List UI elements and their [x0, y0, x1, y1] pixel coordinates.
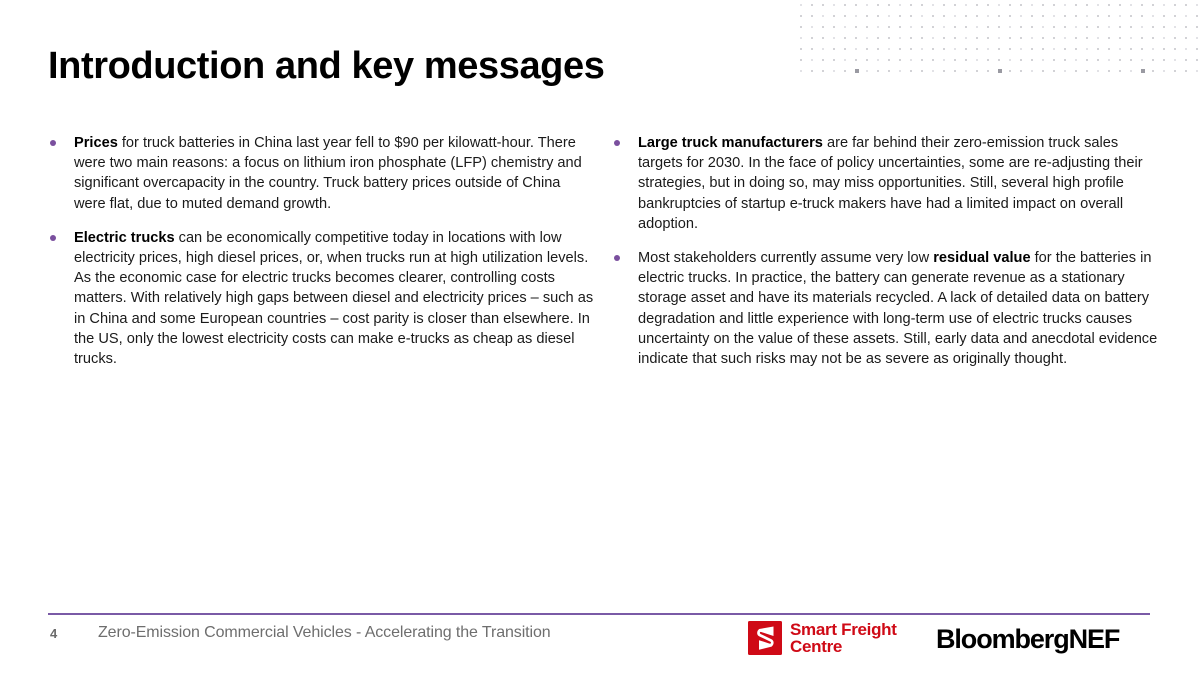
dot-grid-dot — [855, 4, 857, 6]
dot-grid-dot — [932, 59, 934, 61]
dot-grid-dot — [998, 4, 1000, 6]
bullet-text: Electric trucks can be economically comp… — [74, 230, 593, 367]
dot-grid-dot — [822, 70, 824, 72]
dot-grid-dot — [954, 48, 956, 50]
dot-grid-dot — [943, 70, 945, 72]
dot-grid-dot — [1108, 70, 1110, 72]
left-column: Prices for truck batteries in China last… — [48, 133, 594, 369]
dot-grid-dot — [976, 15, 978, 17]
dot-grid-dot — [1163, 26, 1165, 28]
dot-grid-dot — [965, 4, 967, 6]
dot-grid-dot — [811, 59, 813, 61]
dot-grid-dot — [1185, 37, 1187, 39]
dot-grid-dot — [1196, 26, 1198, 28]
dot-grid-dot — [1086, 70, 1088, 72]
dot-grid-dot — [1108, 15, 1110, 17]
dot-grid-dot — [1086, 48, 1088, 50]
dot-grid-dot — [1075, 59, 1077, 61]
dot-grid-dot — [921, 59, 923, 61]
dot-grid-dot — [1130, 48, 1132, 50]
dot-grid-dot — [976, 59, 978, 61]
dot-grid-dot — [811, 37, 813, 39]
dot-grid-dot — [987, 37, 989, 39]
dot-grid-dot — [976, 70, 978, 72]
dot-grid-dot — [1196, 4, 1198, 6]
dot-grid-dot — [1042, 59, 1044, 61]
dot-grid-dot — [1031, 70, 1033, 72]
dot-grid-dot — [833, 26, 835, 28]
dot-grid-dot — [877, 37, 879, 39]
dot-grid-dot — [921, 48, 923, 50]
dot-grid-dot — [932, 70, 934, 72]
dot-grid-dot — [833, 37, 835, 39]
dot-grid-dot — [1075, 15, 1077, 17]
dot-grid-dot — [800, 59, 802, 61]
dot-grid-dot — [877, 15, 879, 17]
dot-grid-dot — [910, 15, 912, 17]
right-column: Large truck manufacturers are far behind… — [612, 133, 1158, 369]
dot-grid-dot — [866, 15, 868, 17]
dot-grid-dot — [910, 26, 912, 28]
dot-grid-dot — [877, 59, 879, 61]
bullet-dot-icon — [50, 140, 56, 146]
dot-grid-dot — [965, 59, 967, 61]
dot-grid-dot — [965, 37, 967, 39]
dot-grid-dot — [954, 4, 956, 6]
dot-grid-dot — [1119, 4, 1121, 6]
dot-grid-dot — [1053, 26, 1055, 28]
dot-grid-dot — [1031, 48, 1033, 50]
dot-grid-dot — [1130, 4, 1132, 6]
dot-grid-dot — [1185, 26, 1187, 28]
dot-grid-dot — [1141, 4, 1143, 6]
dot-grid-dot — [877, 26, 879, 28]
dot-grid-dot — [976, 48, 978, 50]
dot-grid-dot — [888, 37, 890, 39]
dot-grid-dot — [822, 26, 824, 28]
dot-grid-dot — [965, 15, 967, 17]
dot-grid-dot — [943, 48, 945, 50]
dot-grid-dot — [1020, 26, 1022, 28]
dot-grid-dot — [1097, 15, 1099, 17]
dot-grid-dot — [866, 37, 868, 39]
list-item: Electric trucks can be economically comp… — [48, 228, 594, 369]
bullet-text: Large truck manufacturers are far behind… — [638, 135, 1143, 232]
list-item: Large truck manufacturers are far behind… — [612, 133, 1158, 234]
dot-grid-dot — [1185, 59, 1187, 61]
dot-grid-dot — [800, 15, 802, 17]
footer: 4 Zero-Emission Commercial Vehicles - Ac… — [48, 622, 1152, 662]
sfc-line-2: Centre — [790, 638, 897, 655]
dot-grid-dot — [899, 26, 901, 28]
dot-grid-dot — [1163, 37, 1165, 39]
dot-grid-dot — [1086, 37, 1088, 39]
list-item: Most stakeholders currently assume very … — [612, 248, 1158, 369]
dot-grid-dot — [844, 59, 846, 61]
dot-grid-dot — [833, 59, 835, 61]
dot-grid-dot — [1075, 48, 1077, 50]
dot-grid-dot — [1064, 48, 1066, 50]
dot-grid-dot — [910, 37, 912, 39]
bullet-emphasis: residual value — [933, 250, 1030, 266]
dot-grid-dot — [1152, 15, 1154, 17]
dot-grid-dot — [1097, 59, 1099, 61]
bullet-lead: Electric trucks — [74, 230, 175, 246]
dot-grid-dot — [1031, 15, 1033, 17]
dot-grid-dot — [1119, 59, 1121, 61]
bullet-lead: Prices — [74, 135, 118, 151]
dot-grid-dot — [987, 15, 989, 17]
dot-grid-dot — [1053, 70, 1055, 72]
dot-grid-dot — [1108, 48, 1110, 50]
dot-grid-dot — [1174, 59, 1176, 61]
dot-grid-dot — [811, 70, 813, 72]
dot-grid-dot — [965, 70, 967, 72]
dot-grid-dot — [888, 70, 890, 72]
dot-grid-dot — [1196, 15, 1198, 17]
dot-grid-dot — [943, 59, 945, 61]
dot-grid-dot — [833, 70, 835, 72]
dot-grid-dot — [833, 48, 835, 50]
slide-canvas: Introduction and key messages Prices for… — [0, 0, 1200, 675]
dot-grid-dot — [932, 48, 934, 50]
dot-grid-dot — [1119, 48, 1121, 50]
dot-grid-dot — [987, 70, 989, 72]
dot-grid-dot — [888, 26, 890, 28]
dot-grid-dot — [1174, 37, 1176, 39]
dot-grid-dot — [1042, 15, 1044, 17]
dot-grid-dot — [1020, 37, 1022, 39]
dot-grid-dot — [932, 26, 934, 28]
dot-grid-dot — [1196, 37, 1198, 39]
dot-grid-dot — [1064, 37, 1066, 39]
dot-grid-dot — [1020, 48, 1022, 50]
dot-grid-dot — [822, 48, 824, 50]
dot-grid-row — [800, 33, 1200, 44]
dot-grid-dot — [1185, 70, 1187, 72]
dot-grid-row — [800, 44, 1200, 55]
dot-grid-dot — [921, 15, 923, 17]
dot-grid-dot — [899, 4, 901, 6]
bullet-body: for truck batteries in China last year f… — [74, 135, 582, 212]
dot-grid-dot — [899, 70, 901, 72]
dot-grid-dot — [1141, 69, 1145, 73]
dot-grid-dot — [1196, 70, 1198, 72]
dot-grid-dot — [1097, 70, 1099, 72]
dot-grid-dot — [1163, 70, 1165, 72]
dot-grid-dot — [844, 48, 846, 50]
dot-grid-dot — [822, 37, 824, 39]
dot-grid-dot — [811, 15, 813, 17]
dot-grid-dot — [1086, 4, 1088, 6]
dot-grid-dot — [833, 15, 835, 17]
dot-grid-dot — [998, 59, 1000, 61]
dot-grid-dot — [899, 37, 901, 39]
dot-grid-dot — [888, 59, 890, 61]
dot-grid-dot — [943, 15, 945, 17]
dot-grid-row — [800, 0, 1200, 11]
dot-grid-dot — [910, 70, 912, 72]
dot-grid-dot — [1108, 26, 1110, 28]
dot-grid-dot — [1130, 26, 1132, 28]
dot-grid-dot — [1152, 59, 1154, 61]
dot-grid-dot — [998, 37, 1000, 39]
dot-grid-dot — [998, 26, 1000, 28]
dot-grid-dot — [822, 4, 824, 6]
dot-grid-dot — [976, 37, 978, 39]
page-number: 4 — [50, 626, 57, 641]
dot-grid-dot — [998, 48, 1000, 50]
dot-grid-dot — [932, 15, 934, 17]
dot-grid-dot — [877, 4, 879, 6]
dot-grid-dot — [1141, 15, 1143, 17]
list-item: Prices for truck batteries in China last… — [48, 133, 594, 214]
dot-grid-dot — [1009, 37, 1011, 39]
dot-grid-dot — [1174, 4, 1176, 6]
dot-grid-row — [800, 66, 1200, 77]
dot-grid-dot — [1097, 26, 1099, 28]
dot-grid-dot — [1053, 4, 1055, 6]
dot-grid-dot — [1163, 59, 1165, 61]
dot-grid-dot — [1075, 4, 1077, 6]
dot-grid-dot — [1009, 70, 1011, 72]
dot-grid-dot — [1064, 15, 1066, 17]
dot-grid-dot — [910, 4, 912, 6]
dot-grid-dot — [1086, 59, 1088, 61]
dot-grid-dot — [932, 37, 934, 39]
dot-grid-dot — [877, 70, 879, 72]
dot-grid-dot — [1185, 4, 1187, 6]
dot-grid-dot — [1075, 26, 1077, 28]
dot-grid-dot — [1031, 4, 1033, 6]
dot-grid-dot — [1031, 37, 1033, 39]
dot-grid-dot — [1064, 4, 1066, 6]
bullet-text: Prices for truck batteries in China last… — [74, 135, 582, 212]
dot-grid-dot — [1042, 4, 1044, 6]
dot-grid-dot — [1174, 26, 1176, 28]
dot-grid-row — [800, 55, 1200, 66]
dot-grid-dot — [965, 48, 967, 50]
sfc-line-1: Smart Freight — [790, 621, 897, 638]
dot-grid-dot — [1152, 70, 1154, 72]
dot-grid-dot — [987, 48, 989, 50]
dot-grid-dot — [1108, 59, 1110, 61]
dot-grid-dot — [855, 15, 857, 17]
dot-grid-dot — [1009, 15, 1011, 17]
dot-grid-dot — [811, 48, 813, 50]
dot-grid-dot — [1119, 26, 1121, 28]
footer-deck-title: Zero-Emission Commercial Vehicles - Acce… — [98, 624, 551, 642]
dot-grid-dot — [1042, 48, 1044, 50]
dot-grid-dot — [844, 70, 846, 72]
decorative-dot-grid — [800, 0, 1200, 80]
dot-grid-row — [800, 11, 1200, 22]
dot-grid-dot — [1042, 70, 1044, 72]
dot-grid-dot — [1174, 70, 1176, 72]
footer-divider — [48, 613, 1150, 615]
bullet-body-pre: Most stakeholders currently assume very … — [638, 250, 933, 266]
dot-grid-dot — [1009, 4, 1011, 6]
dot-grid-dot — [1086, 15, 1088, 17]
dot-grid-dot — [954, 15, 956, 17]
dot-grid-dot — [1075, 70, 1077, 72]
dot-grid-dot — [1075, 37, 1077, 39]
dot-grid-dot — [899, 15, 901, 17]
dot-grid-dot — [1174, 15, 1176, 17]
dot-grid-dot — [1130, 37, 1132, 39]
dot-grid-dot — [833, 4, 835, 6]
dot-grid-dot — [1174, 48, 1176, 50]
dot-grid-dot — [1009, 59, 1011, 61]
dot-grid-dot — [888, 4, 890, 6]
dot-grid-dot — [811, 4, 813, 6]
dot-grid-dot — [1163, 48, 1165, 50]
page-title: Introduction and key messages — [48, 42, 604, 90]
dot-grid-dot — [888, 48, 890, 50]
dot-grid-dot — [800, 37, 802, 39]
dot-grid-dot — [1020, 4, 1022, 6]
dot-grid-dot — [1064, 70, 1066, 72]
smart-freight-centre-wordmark: Smart Freight Centre — [790, 621, 897, 655]
dot-grid-dot — [1130, 59, 1132, 61]
dot-grid-dot — [987, 59, 989, 61]
dot-grid-dot — [899, 59, 901, 61]
dot-grid-dot — [866, 26, 868, 28]
dot-grid-dot — [932, 4, 934, 6]
bullet-text: Most stakeholders currently assume very … — [638, 250, 1157, 367]
bullet-dot-icon — [614, 255, 620, 261]
dot-grid-dot — [987, 4, 989, 6]
bullet-dot-icon — [50, 235, 56, 241]
dot-grid-dot — [800, 26, 802, 28]
dot-grid-dot — [921, 70, 923, 72]
dot-grid-dot — [844, 26, 846, 28]
dot-grid-dot — [976, 26, 978, 28]
dot-grid-dot — [1020, 15, 1022, 17]
dot-grid-dot — [943, 26, 945, 28]
dot-grid-dot — [1196, 48, 1198, 50]
dot-grid-dot — [1119, 70, 1121, 72]
dot-grid-dot — [1108, 37, 1110, 39]
dot-grid-dot — [855, 26, 857, 28]
dot-grid-dot — [987, 26, 989, 28]
dot-grid-dot — [1053, 37, 1055, 39]
bullet-lead: Large truck manufacturers — [638, 135, 823, 151]
dot-grid-dot — [1130, 15, 1132, 17]
dot-grid-dot — [954, 70, 956, 72]
content-columns: Prices for truck batteries in China last… — [48, 133, 1158, 369]
dot-grid-dot — [822, 59, 824, 61]
bullet-body: can be economically competitive today in… — [74, 230, 593, 367]
dot-grid-dot — [1119, 37, 1121, 39]
dot-grid-dot — [1196, 59, 1198, 61]
dot-grid-dot — [822, 15, 824, 17]
dot-grid-dot — [1053, 15, 1055, 17]
dot-grid-dot — [855, 48, 857, 50]
dot-grid-dot — [954, 59, 956, 61]
dot-grid-dot — [921, 37, 923, 39]
dot-grid-dot — [1141, 59, 1143, 61]
dot-grid-dot — [1020, 59, 1022, 61]
dot-grid-dot — [1064, 59, 1066, 61]
dot-grid-dot — [954, 37, 956, 39]
dot-grid-dot — [1009, 26, 1011, 28]
bullet-dot-icon — [614, 140, 620, 146]
dot-grid-dot — [1141, 48, 1143, 50]
smart-freight-centre-mark-icon — [748, 621, 782, 655]
dot-grid-dot — [954, 26, 956, 28]
dot-grid-dot — [910, 48, 912, 50]
dot-grid-dot — [800, 48, 802, 50]
dot-grid-dot — [1185, 48, 1187, 50]
dot-grid-dot — [800, 70, 802, 72]
dot-grid-dot — [866, 4, 868, 6]
dot-grid-dot — [855, 69, 859, 73]
dot-grid-dot — [888, 15, 890, 17]
dot-grid-dot — [1042, 37, 1044, 39]
dot-grid-dot — [899, 48, 901, 50]
dot-grid-dot — [1053, 48, 1055, 50]
dot-grid-dot — [1119, 15, 1121, 17]
dot-grid-dot — [1163, 4, 1165, 6]
dot-grid-dot — [866, 59, 868, 61]
dot-grid-dot — [910, 59, 912, 61]
dot-grid-dot — [844, 37, 846, 39]
bullet-body: for the batteries in electric trucks. In… — [638, 250, 1157, 367]
dot-grid-dot — [1163, 15, 1165, 17]
dot-grid-dot — [921, 26, 923, 28]
dot-grid-dot — [1097, 37, 1099, 39]
dot-grid-dot — [1031, 26, 1033, 28]
dot-grid-dot — [1086, 26, 1088, 28]
smart-freight-centre-logo: Smart Freight Centre — [748, 618, 897, 658]
bloombergnef-logo: BloombergNEF — [936, 622, 1119, 656]
dot-grid-dot — [866, 70, 868, 72]
dot-grid-dot — [844, 15, 846, 17]
dot-grid-dot — [943, 37, 945, 39]
dot-grid-dot — [1097, 48, 1099, 50]
dot-grid-dot — [800, 4, 802, 6]
dot-grid-dot — [1152, 26, 1154, 28]
dot-grid-dot — [855, 37, 857, 39]
dot-grid-dot — [921, 4, 923, 6]
dot-grid-dot — [943, 4, 945, 6]
dot-grid-dot — [1152, 37, 1154, 39]
dot-grid-row — [800, 77, 1200, 80]
dot-grid-dot — [811, 26, 813, 28]
dot-grid-dot — [1141, 26, 1143, 28]
dot-grid-dot — [1031, 59, 1033, 61]
dot-grid-dot — [1009, 48, 1011, 50]
dot-grid-dot — [1064, 26, 1066, 28]
dot-grid-dot — [1130, 70, 1132, 72]
dot-grid-dot — [844, 4, 846, 6]
dot-grid-dot — [866, 48, 868, 50]
dot-grid-dot — [998, 15, 1000, 17]
dot-grid-dot — [1141, 37, 1143, 39]
dot-grid-dot — [1053, 59, 1055, 61]
dot-grid-dot — [998, 69, 1002, 73]
dot-grid-dot — [1020, 70, 1022, 72]
dot-grid-dot — [1185, 15, 1187, 17]
dot-grid-dot — [1042, 26, 1044, 28]
dot-grid-dot — [877, 48, 879, 50]
dot-grid-dot — [1097, 4, 1099, 6]
dot-grid-row — [800, 22, 1200, 33]
dot-grid-dot — [976, 4, 978, 6]
dot-grid-dot — [1108, 4, 1110, 6]
dot-grid-dot — [965, 26, 967, 28]
